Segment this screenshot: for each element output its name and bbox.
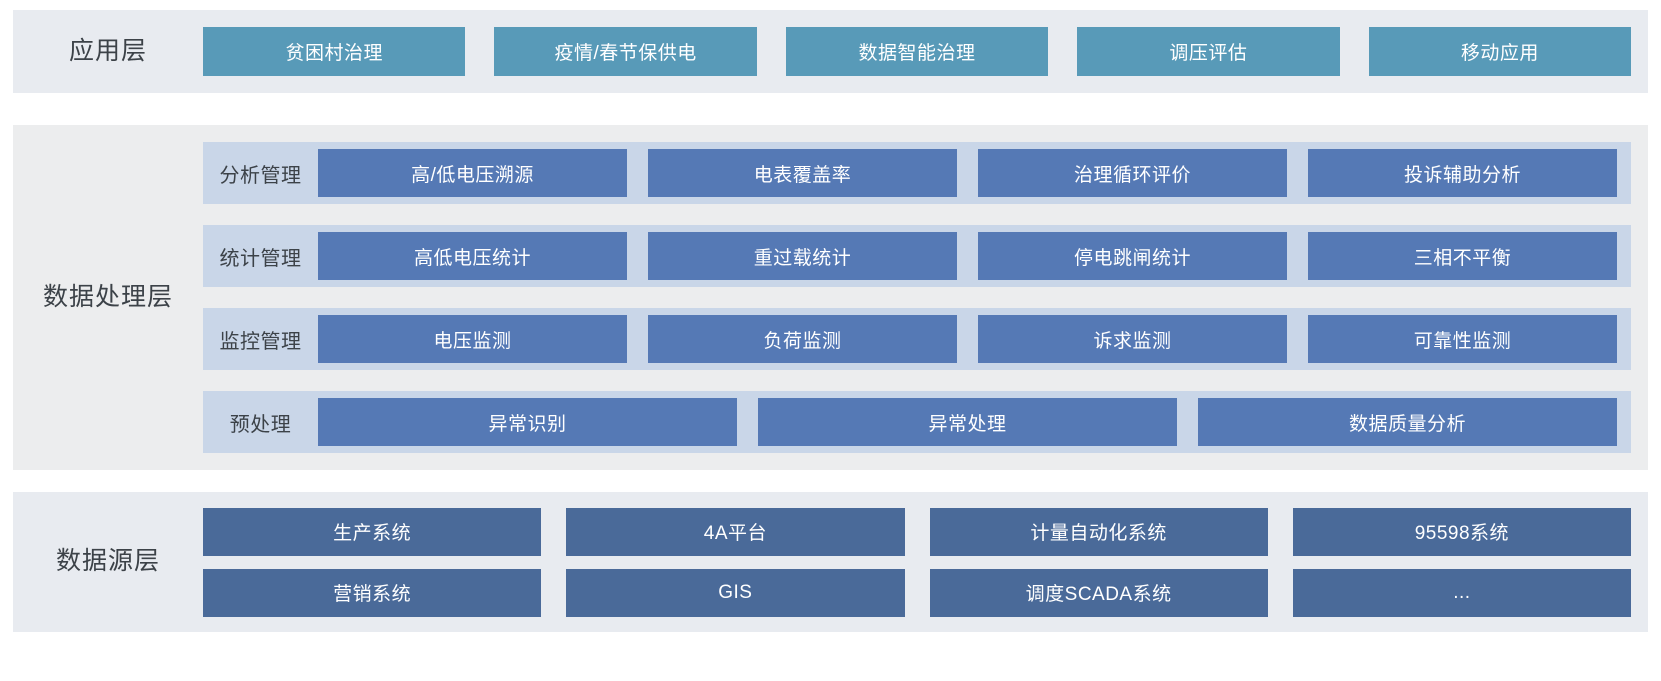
process-row-cells: 高低电压统计 重过载统计 停电跳闸统计 三相不平衡 (318, 232, 1617, 280)
process-cell[interactable]: 可靠性监测 (1308, 315, 1617, 363)
process-row-cells: 高/低电压溯源 电表覆盖率 治理循环评价 投诉辅助分析 (318, 149, 1617, 197)
application-cell[interactable]: 贫困村治理 (203, 27, 465, 76)
process-row-preprocessing: 预处理 异常识别 异常处理 数据质量分析 (203, 391, 1631, 453)
source-row: 生产系统 4A平台 计量自动化系统 95598系统 (203, 508, 1631, 556)
process-row-label: 统计管理 (203, 242, 318, 271)
source-cell[interactable]: GIS (566, 569, 904, 617)
process-cell[interactable]: 异常识别 (318, 398, 737, 446)
source-cell[interactable]: 调度SCADA系统 (930, 569, 1268, 617)
source-row: 营销系统 GIS 调度SCADA系统 ... (203, 569, 1631, 617)
process-cell[interactable]: 诉求监测 (978, 315, 1287, 363)
application-cell[interactable]: 数据智能治理 (786, 27, 1048, 76)
data-processing-layer-body: 分析管理 高/低电压溯源 电表覆盖率 治理循环评价 投诉辅助分析 统计管理 高低… (203, 142, 1648, 453)
application-cell-row: 贫困村治理 疫情/春节保供电 数据智能治理 调压评估 移动应用 (203, 27, 1648, 76)
source-cell[interactable]: ... (1293, 569, 1631, 617)
application-layer: 应用层 贫困村治理 疫情/春节保供电 数据智能治理 调压评估 移动应用 (13, 10, 1648, 93)
process-cell[interactable]: 高/低电压溯源 (318, 149, 627, 197)
application-layer-label: 应用层 (13, 38, 203, 66)
process-row-label: 预处理 (203, 408, 318, 437)
data-source-layer-body: 生产系统 4A平台 计量自动化系统 95598系统 营销系统 GIS 调度SCA… (203, 508, 1648, 617)
application-cell[interactable]: 调压评估 (1077, 27, 1339, 76)
process-row-label: 分析管理 (203, 159, 318, 188)
application-cell[interactable]: 疫情/春节保供电 (494, 27, 756, 76)
process-row-label: 监控管理 (203, 325, 318, 354)
process-cell[interactable]: 治理循环评价 (978, 149, 1287, 197)
data-source-layer-label: 数据源层 (13, 548, 203, 576)
source-cell[interactable]: 计量自动化系统 (930, 508, 1268, 556)
source-cell[interactable]: 4A平台 (566, 508, 904, 556)
source-cell[interactable]: 营销系统 (203, 569, 541, 617)
data-source-layer: 数据源层 生产系统 4A平台 计量自动化系统 95598系统 营销系统 GIS … (13, 492, 1648, 632)
data-processing-layer: 数据处理层 分析管理 高/低电压溯源 电表覆盖率 治理循环评价 投诉辅助分析 统… (13, 125, 1648, 470)
process-row-analysis: 分析管理 高/低电压溯源 电表覆盖率 治理循环评价 投诉辅助分析 (203, 142, 1631, 204)
process-row-statistics: 统计管理 高低电压统计 重过载统计 停电跳闸统计 三相不平衡 (203, 225, 1631, 287)
source-cell[interactable]: 95598系统 (1293, 508, 1631, 556)
process-cell[interactable]: 三相不平衡 (1308, 232, 1617, 280)
process-cell[interactable]: 停电跳闸统计 (978, 232, 1287, 280)
process-cell[interactable]: 重过载统计 (648, 232, 957, 280)
process-cell[interactable]: 负荷监测 (648, 315, 957, 363)
process-row-cells: 电压监测 负荷监测 诉求监测 可靠性监测 (318, 315, 1617, 363)
process-cell[interactable]: 数据质量分析 (1198, 398, 1617, 446)
process-cell[interactable]: 电压监测 (318, 315, 627, 363)
process-row-cells: 异常识别 异常处理 数据质量分析 (318, 398, 1617, 446)
process-cell[interactable]: 投诉辅助分析 (1308, 149, 1617, 197)
process-cell[interactable]: 电表覆盖率 (648, 149, 957, 197)
source-cell[interactable]: 生产系统 (203, 508, 541, 556)
application-layer-body: 贫困村治理 疫情/春节保供电 数据智能治理 调压评估 移动应用 (203, 27, 1648, 76)
process-row-monitoring: 监控管理 电压监测 负荷监测 诉求监测 可靠性监测 (203, 308, 1631, 370)
architecture-diagram: 应用层 贫困村治理 疫情/春节保供电 数据智能治理 调压评估 移动应用 数据处理… (0, 0, 1661, 681)
data-processing-layer-label: 数据处理层 (13, 284, 203, 312)
application-cell[interactable]: 移动应用 (1369, 27, 1631, 76)
process-cell[interactable]: 异常处理 (758, 398, 1177, 446)
process-cell[interactable]: 高低电压统计 (318, 232, 627, 280)
